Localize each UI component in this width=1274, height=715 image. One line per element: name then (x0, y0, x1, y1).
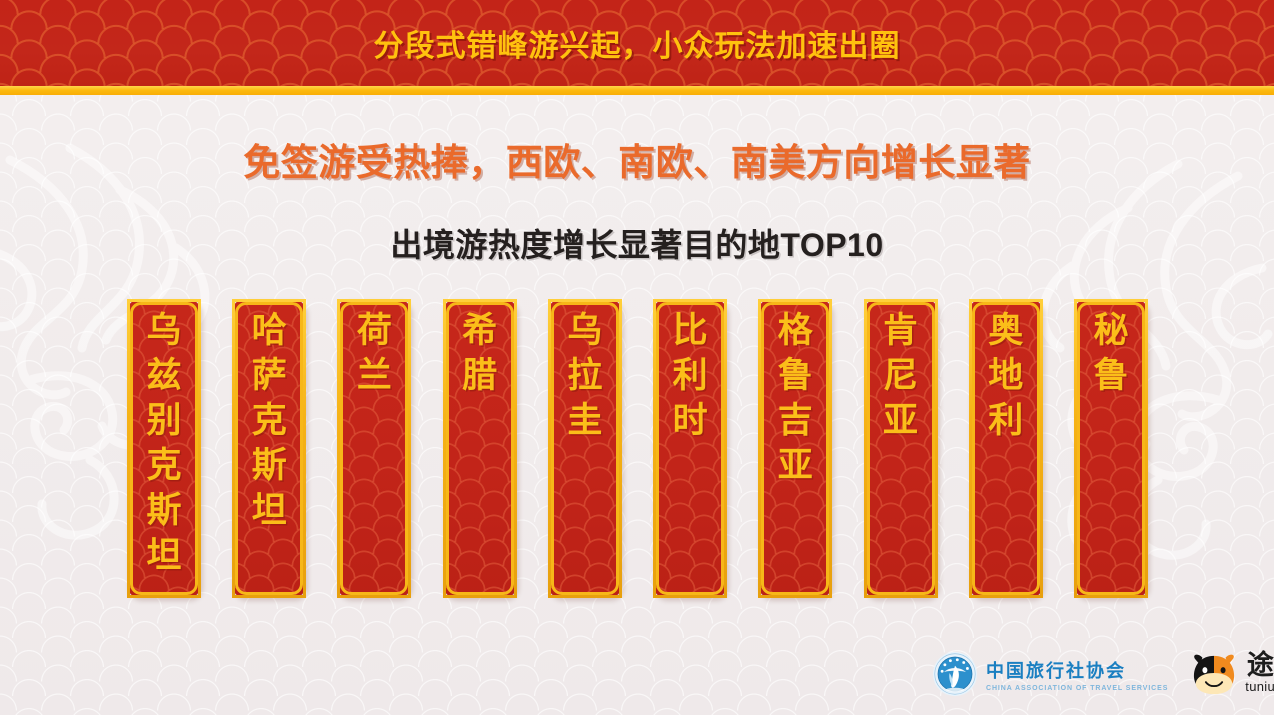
destination-card-row: 乌兹别克斯坦哈萨克斯坦荷兰希腊乌拉圭比利时格鲁吉亚肯尼亚奥地利秘鲁 (127, 299, 1148, 598)
banner-title: 分段式错峰游兴起，小众玩法加速出圈 (374, 21, 901, 65)
destination-name-char: 格 (778, 313, 813, 348)
tuniu-url: tuniu.com (1245, 679, 1274, 696)
cats-emblem-icon (932, 651, 978, 697)
destination-card[interactable]: 秘鲁 (1074, 299, 1148, 598)
header-banner: 分段式错峰游兴起，小众玩法加速出圈 (0, 0, 1274, 86)
destination-name: 奥地利 (972, 313, 1040, 448)
destination-card[interactable]: 希腊 (443, 299, 517, 598)
destination-name-char: 鲁 (1093, 358, 1128, 393)
destination-name-char: 坦 (252, 493, 287, 528)
destination-name-char: 尼 (883, 358, 918, 393)
banner-gold-rule (0, 86, 1274, 95)
destination-name-char: 哈 (252, 313, 287, 348)
destination-name-char: 利 (988, 403, 1023, 438)
destination-name-char: 比 (673, 313, 708, 348)
tuniu-logo[interactable]: 途牛 tuniu.com (1190, 652, 1274, 696)
destination-name: 秘鲁 (1077, 313, 1145, 403)
destination-name-char: 克 (252, 403, 287, 438)
destination-card[interactable]: 肯尼亚 (864, 299, 938, 598)
destination-card[interactable]: 荷兰 (337, 299, 411, 598)
destination-card[interactable]: 乌兹别克斯坦 (127, 299, 201, 598)
footer-logos: 中国旅行社协会 CHINA ASSOCIATION OF TRAVEL SERV… (932, 643, 1262, 705)
destination-name-char: 亚 (883, 403, 918, 438)
destination-name: 哈萨克斯坦 (235, 313, 303, 538)
destination-name-char: 拉 (567, 358, 602, 393)
destination-name: 希腊 (446, 313, 514, 403)
tuniu-wordmark: 途牛 tuniu.com (1245, 652, 1274, 696)
destination-name-char: 时 (673, 403, 708, 438)
destination-name-char: 乌 (567, 313, 602, 348)
destination-name-char: 亚 (778, 448, 813, 483)
destination-name-char: 鲁 (778, 358, 813, 393)
destination-name-char: 克 (146, 448, 181, 483)
destination-name-char: 地 (988, 358, 1023, 393)
cats-logo[interactable]: 中国旅行社协会 CHINA ASSOCIATION OF TRAVEL SERV… (932, 651, 1168, 697)
destination-name-char: 斯 (146, 493, 181, 528)
destination-name-char: 荷 (357, 313, 392, 348)
destination-name: 荷兰 (340, 313, 408, 403)
destination-name: 肯尼亚 (867, 313, 935, 448)
destination-name: 比利时 (656, 313, 724, 448)
destination-card[interactable]: 比利时 (653, 299, 727, 598)
destination-name-char: 奥 (988, 313, 1023, 348)
cats-wordmark: 中国旅行社协会 CHINA ASSOCIATION OF TRAVEL SERV… (986, 657, 1168, 692)
destination-card[interactable]: 乌拉圭 (548, 299, 622, 598)
destination-card[interactable]: 格鲁吉亚 (758, 299, 832, 598)
destination-name-char: 秘 (1093, 313, 1128, 348)
destination-name-char: 利 (673, 358, 708, 393)
destination-name: 乌兹别克斯坦 (130, 313, 198, 583)
destination-name-char: 希 (462, 313, 497, 348)
tuniu-cow-icon (1190, 652, 1238, 696)
destination-name-char: 斯 (252, 448, 287, 483)
destination-name-char: 萨 (252, 358, 287, 393)
cats-name-cn: 中国旅行社协会 (986, 657, 1168, 683)
destination-name-char: 腊 (462, 358, 497, 393)
destination-name-char: 肯 (883, 313, 918, 348)
destination-name-char: 乌 (146, 313, 181, 348)
destination-card[interactable]: 奥地利 (969, 299, 1043, 598)
destination-name-char: 坦 (146, 538, 181, 573)
destination-name-char: 兹 (146, 358, 181, 393)
tuniu-name-cn: 途牛 (1247, 652, 1274, 679)
destination-name: 格鲁吉亚 (761, 313, 829, 493)
page-subtitle: 出境游热度增长显著目的地TOP10 (0, 220, 1274, 266)
cats-name-en: CHINA ASSOCIATION OF TRAVEL SERVICES (986, 685, 1168, 692)
destination-name-char: 别 (146, 403, 181, 438)
destination-name-char: 兰 (357, 358, 392, 393)
destination-card[interactable]: 哈萨克斯坦 (232, 299, 306, 598)
page-title: 免签游受热捧，西欧、南欧、南美方向增长显著 (0, 132, 1274, 186)
destination-name-char: 吉 (778, 403, 813, 438)
slide-root: 分段式错峰游兴起，小众玩法加速出圈 免签游受热捧，西欧、南欧、南美方向增长显著 … (0, 0, 1274, 715)
destination-name-char: 圭 (567, 403, 602, 438)
destination-name: 乌拉圭 (551, 313, 619, 448)
